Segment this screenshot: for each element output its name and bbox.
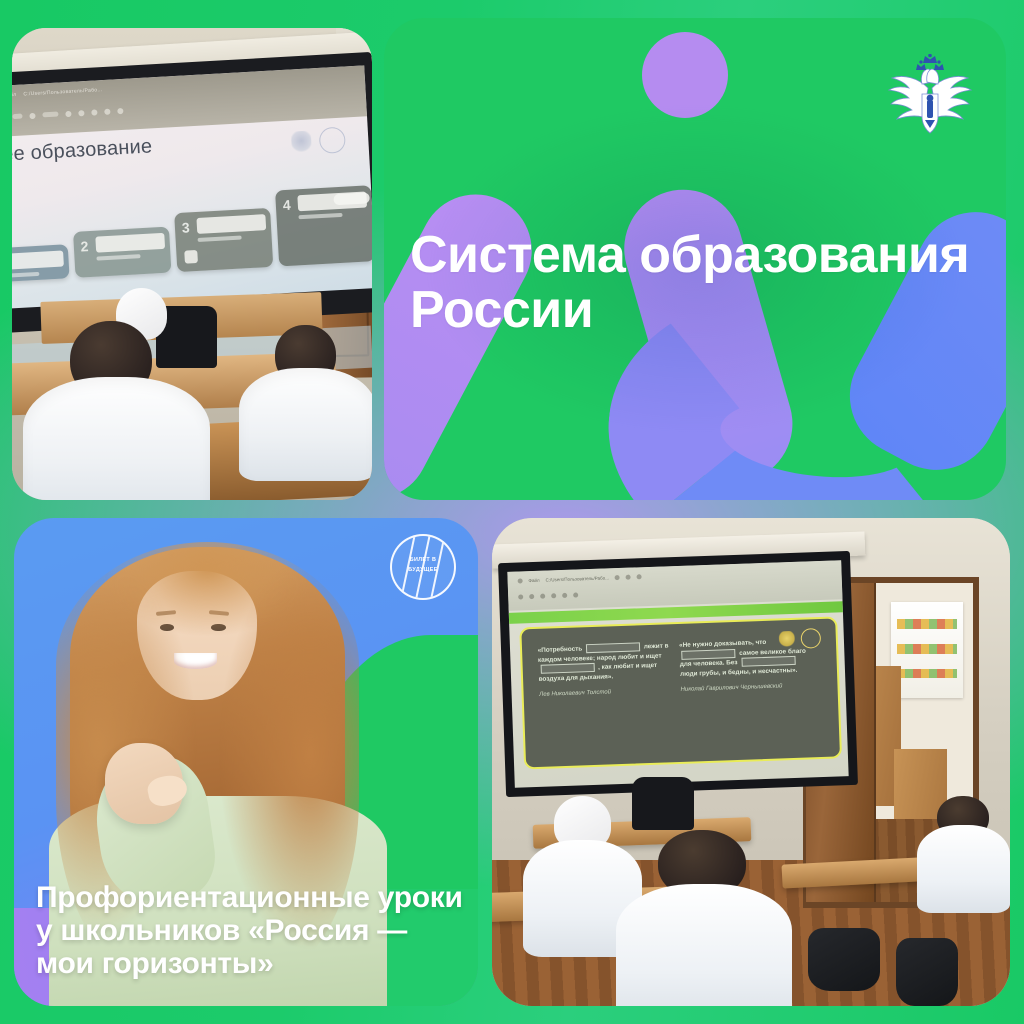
panel-caption: Профориентационные уроки у школьников «Р… bbox=[36, 881, 466, 980]
girl-eye-right bbox=[211, 624, 225, 632]
toolbar-row-bottom bbox=[12, 95, 355, 121]
quote-blank-field bbox=[742, 656, 796, 667]
chair bbox=[632, 777, 694, 831]
highlight-icon bbox=[78, 110, 84, 116]
quote-blank-field bbox=[682, 649, 736, 660]
page-fit-icon bbox=[29, 113, 35, 119]
rotate-icon bbox=[551, 593, 556, 598]
print-icon bbox=[637, 575, 642, 580]
projected-slide: Файл C:/Users/Пользователь/Рабо... bbox=[507, 561, 849, 788]
toolbar-row-bottom bbox=[518, 583, 833, 599]
girl-eye-left bbox=[160, 624, 174, 632]
toolbar-menu-label: Файл bbox=[529, 578, 540, 583]
search-icon bbox=[615, 575, 620, 580]
draw-icon bbox=[91, 109, 97, 115]
stage-card bbox=[12, 244, 69, 284]
eagle-emblem-icon bbox=[291, 131, 312, 154]
backpack-desk bbox=[896, 938, 958, 1006]
classroom-presentation-photo: Файл C:/Users/Пользователь/Рабо... bbox=[12, 28, 372, 500]
stage-card: 3 bbox=[174, 208, 273, 273]
girl-brow-right bbox=[209, 610, 230, 616]
girl-face bbox=[137, 571, 257, 700]
page-title: Система образования России bbox=[410, 228, 1006, 338]
stage-label bbox=[12, 250, 64, 270]
poster-canvas: Файл C:/Users/Пользователь/Рабо... bbox=[0, 0, 1024, 1024]
backpack-floor bbox=[808, 928, 881, 991]
quote-left-author: Лев Николаевич Толстой bbox=[539, 686, 674, 699]
quote-left-part-1: «Потребность bbox=[538, 645, 583, 654]
bilet-v-budushchee-logo: БИЛЕТ В БУДУЩЕЕ bbox=[390, 534, 456, 600]
projected-slide: Файл C:/Users/Пользователь/Рабо... bbox=[12, 66, 372, 311]
wall-poster bbox=[891, 602, 963, 698]
search-icon bbox=[117, 108, 123, 114]
poster-letters-row-3 bbox=[897, 669, 958, 679]
stage-number: 2 bbox=[80, 239, 89, 255]
hero-panel: Система образования России bbox=[384, 18, 1006, 500]
slide-title: Общее образование bbox=[12, 136, 153, 169]
view-icon bbox=[626, 575, 631, 580]
quote-blank-field bbox=[541, 663, 595, 674]
quote-slide: «Потребность лежит в каждом человеке; на… bbox=[519, 617, 842, 770]
student-body-right bbox=[239, 368, 372, 481]
page-number-field bbox=[540, 593, 545, 598]
stage-sub bbox=[298, 214, 342, 220]
page-number-field bbox=[42, 112, 58, 118]
stage-number: 4 bbox=[282, 198, 291, 214]
stage-sub bbox=[96, 255, 140, 261]
stamp-icon bbox=[573, 592, 578, 597]
rotate-icon bbox=[65, 111, 71, 117]
stamp-icon bbox=[104, 109, 110, 115]
quote-right-part-3: люди грубы, и бедны, и несчастны». bbox=[680, 667, 798, 678]
girl-brow-left bbox=[156, 610, 177, 616]
stage-label bbox=[196, 214, 266, 234]
quote-right: «Не нужно доказывать, что самое великое … bbox=[679, 636, 816, 694]
poster-letters-row-2 bbox=[897, 644, 958, 654]
girl-smile bbox=[174, 653, 217, 668]
zoom-in-icon bbox=[12, 114, 22, 120]
zoom-in-icon bbox=[529, 594, 534, 599]
education-stage-cards: 2 3 4 bbox=[12, 159, 372, 284]
toolbar-path-label: C:/Users/Пользователь/Рабо... bbox=[546, 576, 610, 583]
poster-letters-row-1 bbox=[897, 619, 958, 629]
zoom-out-icon bbox=[518, 594, 523, 599]
stage-card: 4 bbox=[275, 186, 372, 267]
russia-ministry-of-education-eagle-emblem bbox=[882, 54, 978, 142]
student-body-center bbox=[616, 884, 792, 1006]
toolbar-row-top: Файл C:/Users/Пользователь/Рабо... bbox=[518, 568, 833, 584]
stage-card: 2 bbox=[73, 227, 172, 278]
quote-right-author: Николай Гаврилович Чернышевский bbox=[681, 681, 816, 694]
toolbar-path-label: C:/Users/Пользователь/Рабо... bbox=[23, 88, 102, 98]
quote-left: «Потребность лежит в каждом человеке; на… bbox=[538, 641, 675, 699]
quote-right-part-1: «Не нужно доказывать, что bbox=[679, 639, 766, 649]
download-icon bbox=[184, 251, 198, 265]
classroom-quotes-photo: Файл C:/Users/Пользователь/Рабо... bbox=[492, 518, 1010, 1006]
career-guidance-panel: БИЛЕТ В БУДУЩЕЕ Профориентационные уроки… bbox=[14, 518, 478, 1006]
toolbar-menu-label: Файл bbox=[12, 92, 17, 99]
globe-emblem-icon bbox=[319, 127, 346, 154]
pen-icon bbox=[562, 593, 567, 598]
student-body-right bbox=[917, 825, 1010, 913]
menu-icon bbox=[518, 579, 523, 584]
stage-sub bbox=[12, 272, 39, 278]
stage-sub bbox=[197, 236, 241, 242]
quote-blank-field bbox=[586, 642, 640, 653]
stage-number: 3 bbox=[181, 220, 190, 236]
stage-label bbox=[95, 233, 165, 253]
badge-text-line-2: БУДУЩЕЕ bbox=[392, 567, 454, 574]
student-body-center bbox=[23, 377, 210, 500]
slide-emblems bbox=[291, 127, 346, 156]
badge-text-line-1: БИЛЕТ В bbox=[392, 557, 454, 564]
projection-screen-frame: Файл C:/Users/Пользователь/Рабо... bbox=[498, 551, 858, 797]
toolbar-row-top: Файл C:/Users/Пользователь/Рабо... bbox=[12, 74, 353, 100]
